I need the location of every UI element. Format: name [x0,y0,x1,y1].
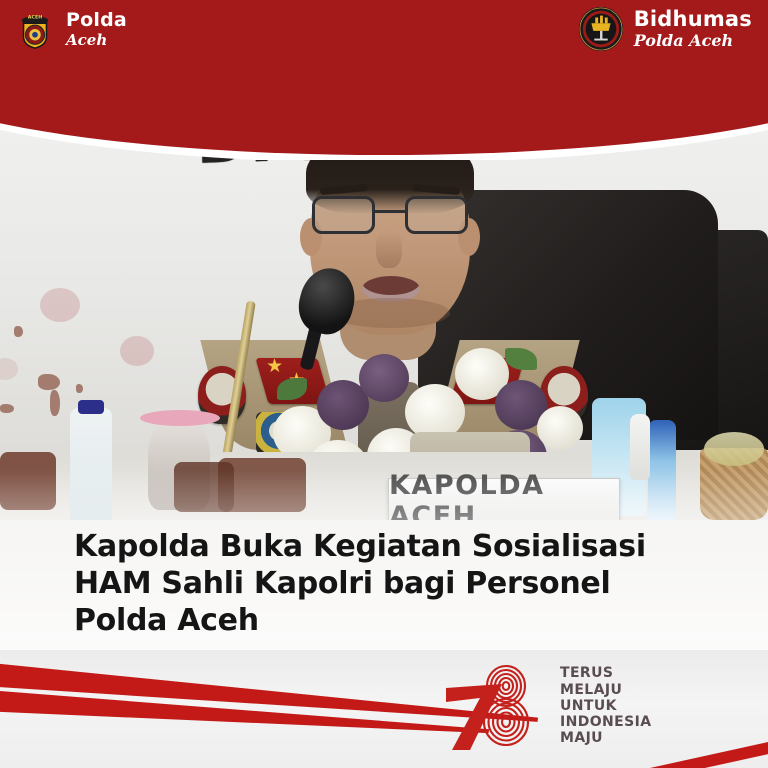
svg-text:ACEH: ACEH [28,15,42,21]
brand-polda-aceh[interactable]: ACEH Polda Aceh [14,8,127,50]
water-bottle-right [648,420,676,522]
headline: Kapolda Buka Kegiatan Sosialisasi HAM Sa… [74,528,694,640]
brand-polda-text: Polda Aceh [66,11,127,48]
white-bottle-right [630,414,650,480]
brand-bidhumas-name: Bidhumas [634,9,752,30]
pink-lid [140,410,220,426]
nose [376,230,402,268]
brand-polda-name: Polda [66,11,127,30]
brand-bidhumas-text: Bidhumas Polda Aceh [634,9,752,49]
bidhumas-emblem-icon [578,6,624,52]
brand-polda-sub: Aceh [66,33,127,48]
slogan-line-1: TERUS [560,665,651,681]
slogan-line-4: INDONESIA [560,714,651,730]
headline-line-1: Kapolda Buka Kegiatan Sosialisasi [74,528,694,565]
headline-line-3: Polda Aceh [74,602,694,639]
slogan-line-5: MAJU [560,730,651,746]
bottle-cap-left [78,400,104,414]
brand-bidhumas-sub: Polda Aceh [634,33,752,49]
indonesia-78-logo-icon [440,658,552,754]
tray-left [0,452,56,510]
basket-contents [704,432,764,466]
slogan-line-3: UNTUK [560,698,651,714]
brand-bidhumas[interactable]: Bidhumas Polda Aceh [578,6,752,52]
slogan-line-2: MELAJU [560,682,651,698]
poster-canvas: DI POLDA A [0,0,768,768]
anniversary-logo: TERUS MELAJU UNTUK INDONESIA MAJU [440,656,740,756]
anniversary-slogan: TERUS MELAJU UNTUK INDONESIA MAJU [560,665,651,746]
polda-aceh-emblem-icon: ACEH [14,8,56,50]
nameplate: KAPOLDA ACEH [388,478,620,524]
tray-right [174,462,234,512]
headline-line-2: HAM Sahli Kapolri bagi Personel [74,565,694,602]
water-bottle-left [70,408,112,524]
